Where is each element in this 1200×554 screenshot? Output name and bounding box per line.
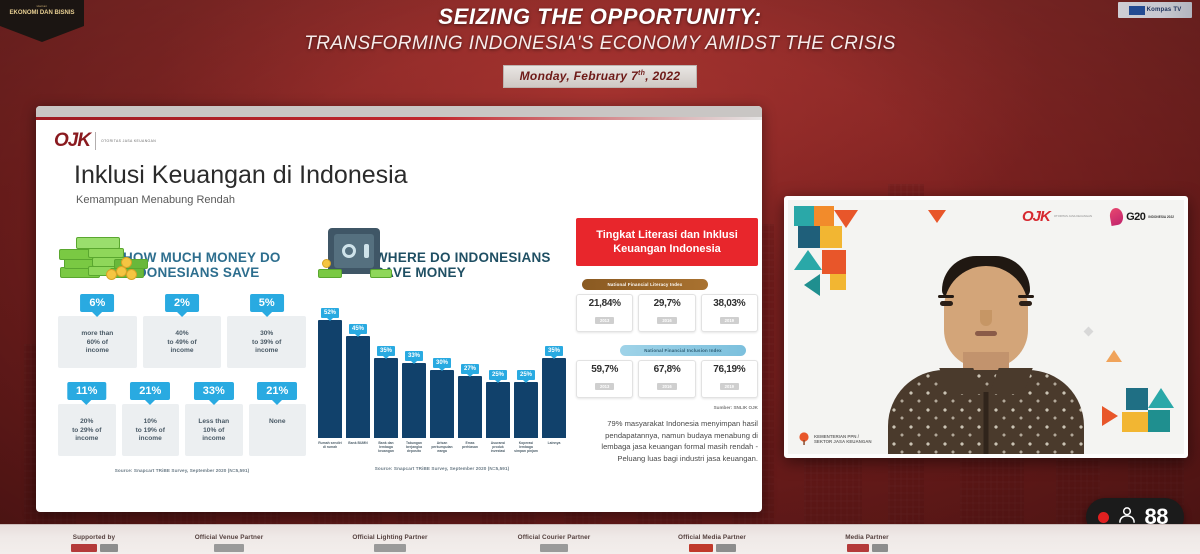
bar-rect	[402, 363, 426, 438]
bar-value-label: 35%	[377, 346, 395, 356]
event-title-sub: TRANSFORMING INDONESIA'S ECONOMY AMIDST …	[0, 33, 1200, 55]
savings-card-line1: 20%	[61, 418, 113, 427]
inclusion-index-year: 2016	[657, 383, 676, 390]
sponsor-group-label: Supported by	[73, 534, 115, 541]
speaker-nose	[980, 310, 992, 326]
savings-card-line3: income	[188, 435, 240, 444]
savings-card: 6% more than 60% of income	[58, 294, 137, 368]
safe-icon	[318, 222, 369, 280]
literacy-index-pct: 29,7%	[640, 298, 693, 309]
savings-card-pct: 11%	[67, 382, 106, 400]
sponsor-logo	[847, 543, 888, 552]
savings-card-pct: 33%	[194, 382, 234, 400]
bar-chart-category-labels: Rumah sendiri di rumah Bank BUMN Bank da…	[318, 441, 566, 454]
savings-card-pct: 21%	[257, 382, 297, 400]
bar-category-label: Lainnya	[542, 441, 566, 454]
inclusion-index-bar: National Financial Inclusion Index	[620, 345, 746, 356]
video-ojk-logo: OJK OTORITAS JASA KEUANGAN	[1022, 208, 1092, 225]
savings-cards-row-2: 11% 20% to 29% of income 21% 10% to 19% …	[58, 382, 306, 456]
bar-value-label: 27%	[461, 364, 479, 374]
savings-location-bar-chart: 52% 45% 35% 33% 30% 27%	[318, 296, 566, 438]
bar-category-label: Emas perhiasan	[458, 441, 482, 454]
slide-accent-bar	[36, 117, 762, 120]
bar-value-label: 45%	[349, 324, 367, 334]
literacy-inclusion-column: Tingkat Literasi dan Inklusi Keuangan In…	[576, 218, 758, 464]
decorative-pattern-top-left	[794, 206, 872, 298]
money-stack-icon	[58, 222, 117, 280]
bar-column: 25%	[514, 296, 538, 438]
video-ojk-mark: OJK	[1022, 208, 1050, 225]
savings-card-line1: 30%	[230, 330, 303, 339]
bar-rect	[430, 370, 454, 438]
bar-value-label: 25%	[489, 370, 507, 380]
bar-value-label: 30%	[433, 358, 451, 368]
bar-category-label: Bank BUMN	[346, 441, 370, 454]
video-ojk-sub: OTORITAS JASA KEUANGAN	[1054, 215, 1092, 219]
savings-amount-column: HOW MUCH MONEY DO INDONESIANS SAVE 6% mo…	[58, 218, 306, 473]
inclusion-index-pct: 76,19%	[703, 364, 756, 375]
bar-column: 25%	[486, 296, 510, 438]
savings-card-line1: Less than	[188, 418, 240, 427]
video-caption-line1: KEMENTERIAN PPN /	[814, 434, 859, 439]
savings-card-line2: to 29% of	[61, 427, 113, 436]
tree-icon	[798, 432, 810, 446]
savings-cards-row-1: 6% more than 60% of income 2% 40% to 49%…	[58, 294, 306, 368]
video-g20-sub: INDONESIA 2022	[1148, 215, 1174, 219]
savings-card-line2: to 19% of	[125, 427, 177, 436]
literacy-index-pct: 38,03%	[703, 298, 756, 309]
inclusion-index-cell: 67,8% 2016	[638, 360, 695, 398]
literacy-index-cell: 38,03% 2019	[701, 294, 758, 332]
inclusion-index-pct: 59,7%	[578, 364, 631, 375]
savings-card-line1: None	[252, 418, 304, 427]
savings-card: 33% Less than 10% of income	[185, 382, 243, 456]
sponsor-group-label: Official Venue Partner	[195, 534, 264, 541]
sponsor-logo	[71, 543, 118, 552]
inclusion-index-year: 2013	[595, 383, 614, 390]
bar-value-label: 33%	[405, 351, 423, 361]
safe-illustration: WHERE DO INDONESIANS SAVE MONEY	[318, 218, 566, 280]
slide-subtitle: Kemampuan Menabung Rendah	[76, 194, 235, 206]
savings-card: 2% 40% to 49% of income	[143, 294, 222, 368]
literacy-index-cell: 21,84% 2013	[576, 294, 633, 332]
savings-card-body: 30% to 39% of income	[227, 316, 306, 368]
savings-card: 5% 30% to 39% of income	[227, 294, 306, 368]
video-caption-text: KEMENTERIAN PPN / SEKTOR JASA KEUANGAN	[814, 434, 872, 445]
bar-value-label: 52%	[321, 308, 339, 318]
g20-batik-icon	[1109, 207, 1125, 226]
video-g20-logo: G20 INDONESIA 2022	[1110, 208, 1174, 225]
sponsor-group: Official Lighting Partner	[304, 534, 476, 552]
savings-card-line3: income	[230, 347, 303, 356]
savings-card-line2: 60% of	[61, 339, 134, 348]
slide-top-bar	[36, 106, 762, 117]
bar-value-label: 25%	[517, 370, 535, 380]
savings-card-line3: income	[61, 435, 113, 444]
sponsor-logo	[689, 543, 736, 552]
savings-card-pct: 21%	[130, 382, 170, 400]
savings-source-note: Source: Snapcart TRiBE Survey, September…	[58, 468, 306, 473]
inclusion-index-row: National Financial Inclusion Index 59,7%…	[576, 345, 758, 398]
literacy-index-row: National Financial Literacy Index 21,84%…	[576, 279, 758, 332]
sponsor-logo	[374, 543, 406, 552]
event-date-prefix: Monday, February 7	[520, 69, 638, 83]
savings-amount-heading: HOW MUCH MONEY DO INDONESIANS SAVE	[123, 250, 306, 280]
bar-column: 27%	[458, 296, 482, 438]
speaker-video-tile[interactable]: OJK OTORITAS JASA KEUANGAN G20 INDONESIA…	[784, 196, 1188, 458]
bar-rect	[346, 336, 370, 438]
literacy-index-year: 2019	[720, 317, 739, 324]
sponsor-group-label: Official Lighting Partner	[352, 534, 427, 541]
bar-rect	[374, 358, 398, 438]
savings-card-pct: 2%	[165, 294, 199, 312]
savings-card-line1: more than	[61, 330, 134, 339]
savings-card-pct: 5%	[250, 294, 284, 312]
decorative-pattern-bottom-right	[1102, 388, 1174, 446]
sponsor-group: Official Venue Partner	[154, 534, 304, 552]
bar-category-label: Bank dan lembaga keuangan	[374, 441, 398, 454]
savings-card-body: Less than 10% of income	[185, 404, 243, 456]
decorative-triangle	[1106, 350, 1122, 362]
savings-card-body: 40% to 49% of income	[143, 316, 222, 368]
bar-category-label: Asuransi produk investasi	[486, 441, 510, 454]
sponsor-group-label: Official Media Partner	[678, 534, 746, 541]
savings-card-line2: to 39% of	[230, 339, 303, 348]
literacy-index-values: 21,84% 2013 29,7% 2016 38,03% 2019	[576, 294, 758, 332]
bar-value-label: 35%	[545, 346, 563, 356]
sponsor-footer: Supported by Official Venue Partner Offi…	[0, 524, 1200, 554]
savings-card-body: more than 60% of income	[58, 316, 137, 368]
inclusion-index-cell: 59,7% 2013	[576, 360, 633, 398]
bar-category-label: Tabungan berjangka deposito	[402, 441, 426, 454]
savings-card-pct: 6%	[80, 294, 114, 312]
savings-card-line2: to 49% of	[146, 339, 219, 348]
savings-card: 21% 10% to 19% of income	[122, 382, 180, 456]
literacy-index-pct: 21,84%	[578, 298, 631, 309]
sponsor-logo	[214, 543, 244, 552]
sponsor-group: Supported by	[34, 534, 154, 552]
speaker-eye-left	[940, 301, 953, 306]
bar-category-label: Rumah sendiri di rumah	[318, 441, 342, 454]
bar-rect	[542, 358, 566, 438]
bar-rect	[486, 382, 510, 438]
savings-card-line3: income	[146, 347, 219, 356]
sponsor-group-label: Media Partner	[845, 534, 889, 541]
savings-card-line2: 10% of	[188, 427, 240, 436]
literacy-source-note: Sumber: SNLIK OJK	[576, 405, 758, 410]
sponsor-group: Official Courier Partner	[476, 534, 632, 552]
sponsor-logo	[540, 543, 568, 552]
bar-column: 52%	[318, 296, 342, 438]
speaker-eye-right	[1019, 301, 1032, 306]
speaker-shirt-placket	[984, 392, 989, 454]
inclusion-index-pct: 67,8%	[640, 364, 693, 375]
slide-title: Inklusi Keuangan di Indonesia	[74, 161, 408, 190]
ojk-logo-divider	[95, 132, 96, 150]
event-date-suffix: , 2022	[645, 69, 680, 83]
sponsor-group: Official Media Partner	[632, 534, 792, 552]
event-title-main: SEIZING THE OPPORTUNITY:	[0, 4, 1200, 30]
live-dot-icon	[1098, 512, 1109, 523]
inclusion-index-values: 59,7% 2013 67,8% 2016 76,19% 2019	[576, 360, 758, 398]
savings-card-line3: income	[61, 347, 134, 356]
presentation-slide[interactable]: OJK OTORITAS JASA KEUANGAN Inklusi Keuan…	[36, 106, 762, 512]
savings-location-source-note: Source: Snapcart TRiBE Survey, September…	[318, 466, 566, 471]
bar-category-label: Koperasi lembaga simpan pinjam	[514, 441, 538, 454]
literacy-banner: Tingkat Literasi dan Inklusi Keuangan In…	[576, 218, 758, 266]
literacy-index-bar: National Financial Literacy Index	[582, 279, 708, 290]
ojk-logo: OJK OTORITAS JASA KEUANGAN	[54, 130, 156, 152]
speaker-eyebrow-left	[938, 295, 954, 298]
inclusion-index-year: 2019	[720, 383, 739, 390]
sponsor-group-label: Official Courier Partner	[518, 534, 591, 541]
inclusion-index-cell: 76,19% 2019	[701, 360, 758, 398]
video-g20-mark: G20	[1126, 211, 1145, 223]
decorative-triangle	[928, 210, 946, 223]
bar-rect	[458, 376, 482, 438]
bar-rect	[514, 382, 538, 438]
ojk-logo-mark: OJK	[54, 130, 90, 152]
speaker-eyebrow-right	[1018, 295, 1034, 298]
savings-location-column: WHERE DO INDONESIANS SAVE MONEY 52% 45% …	[318, 218, 566, 471]
savings-card-body: 20% to 29% of income	[58, 404, 116, 456]
savings-location-heading: WHERE DO INDONESIANS SAVE MONEY	[375, 250, 566, 280]
literacy-index-year: 2016	[657, 317, 676, 324]
bar-category-label: Arisan perkumpulan warga	[430, 441, 454, 454]
speaker-mouth	[975, 331, 997, 336]
savings-card: 11% 20% to 29% of income	[58, 382, 116, 456]
savings-card-body: 10% to 19% of income	[122, 404, 180, 456]
literacy-index-year: 2013	[595, 317, 614, 324]
sponsor-group: Media Partner	[792, 534, 942, 552]
bar-column: 35%	[542, 296, 566, 438]
bar-column: 33%	[402, 296, 426, 438]
savings-card-body: None	[249, 404, 307, 456]
savings-card: 21% None	[249, 382, 307, 456]
video-caption: KEMENTERIAN PPN / SEKTOR JASA KEUANGAN	[798, 432, 872, 446]
bar-column: 45%	[346, 296, 370, 438]
savings-card-line3: income	[125, 435, 177, 444]
savings-card-line1: 10%	[125, 418, 177, 427]
ojk-logo-text: OTORITAS JASA KEUANGAN	[101, 139, 156, 143]
video-caption-line2: SEKTOR JASA KEUANGAN	[814, 439, 872, 444]
literacy-summary-note: 79% masyarakat Indonesia menyimpan hasil…	[576, 418, 758, 464]
literacy-index-cell: 29,7% 2016	[638, 294, 695, 332]
event-date-chip: Monday, February 7th, 2022	[503, 65, 698, 88]
savings-card-line1: 40%	[146, 330, 219, 339]
bar-rect	[318, 320, 342, 438]
bar-column: 35%	[374, 296, 398, 438]
bar-column: 30%	[430, 296, 454, 438]
money-illustration: HOW MUCH MONEY DO INDONESIANS SAVE	[58, 218, 306, 280]
speaker-portrait	[886, 276, 1086, 454]
event-header: SEIZING THE OPPORTUNITY: TRANSFORMING IN…	[0, 4, 1200, 88]
